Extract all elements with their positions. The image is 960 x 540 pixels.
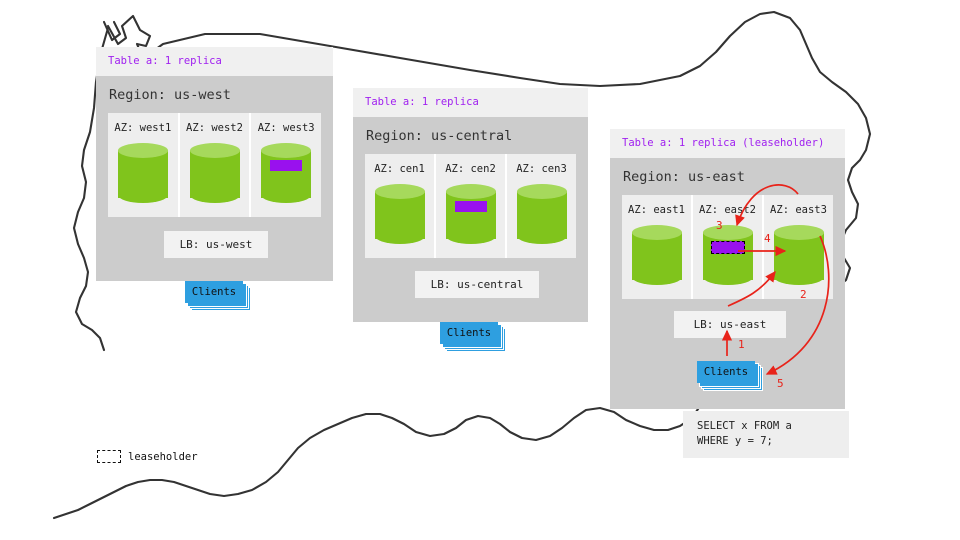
- cylinder-top: [118, 143, 168, 158]
- az-row-us-central: AZ: cen1 AZ: cen2: [365, 154, 576, 258]
- clients-label-us-east: Clients: [697, 361, 755, 383]
- node-cylinder-west2[interactable]: [190, 143, 240, 205]
- load-balancer-us-east[interactable]: LB: us-east: [674, 311, 786, 338]
- node-cylinder-east1[interactable]: [632, 225, 682, 287]
- cylinder-top: [190, 143, 240, 158]
- az-cell-west2[interactable]: AZ: west2: [180, 113, 252, 217]
- az-cell-east1[interactable]: AZ: east1: [622, 195, 693, 299]
- az-cell-west1[interactable]: AZ: west1: [108, 113, 180, 217]
- legend-leaseholder-label: leaseholder: [128, 451, 198, 463]
- clients-us-west[interactable]: Clients: [185, 281, 249, 309]
- az-cell-east2[interactable]: AZ: east2: [693, 195, 764, 299]
- load-balancer-us-central[interactable]: LB: us-central: [415, 271, 539, 298]
- step-number-5: 5: [777, 377, 784, 390]
- load-balancer-us-west[interactable]: LB: us-west: [164, 231, 268, 258]
- node-cylinder-cen3[interactable]: [517, 184, 567, 246]
- node-cylinder-east3[interactable]: [774, 225, 824, 287]
- step-number-2: 2: [800, 288, 807, 301]
- cylinder-top: [375, 184, 425, 199]
- az-row-us-east: AZ: east1 AZ: east2: [622, 195, 833, 299]
- az-label-cen1: AZ: cen1: [374, 163, 425, 175]
- az-label-east2: AZ: east2: [699, 204, 756, 216]
- table-replica-label-us-west: Table a: 1 replica: [96, 47, 333, 76]
- az-cell-cen3[interactable]: AZ: cen3: [507, 154, 576, 258]
- legend-leaseholder: leaseholder: [97, 450, 198, 463]
- replica-marker-west3: [270, 160, 302, 171]
- region-title-us-west: Region: us-west: [96, 76, 333, 113]
- az-label-east1: AZ: east1: [628, 204, 685, 216]
- az-label-west2: AZ: west2: [186, 122, 243, 134]
- replica-marker-east2-leaseholder: [711, 241, 745, 254]
- clients-us-central[interactable]: Clients: [440, 322, 504, 350]
- diagram-canvas: Table a: 1 replica Region: us-west AZ: w…: [0, 0, 960, 540]
- az-label-east3: AZ: east3: [770, 204, 827, 216]
- az-label-cen2: AZ: cen2: [445, 163, 496, 175]
- node-cylinder-cen2[interactable]: [446, 184, 496, 246]
- az-cell-east3[interactable]: AZ: east3: [764, 195, 833, 299]
- cylinder-top: [703, 225, 753, 240]
- node-cylinder-cen1[interactable]: [375, 184, 425, 246]
- node-cylinder-west1[interactable]: [118, 143, 168, 205]
- cylinder-top: [261, 143, 311, 158]
- az-cell-cen2[interactable]: AZ: cen2: [436, 154, 507, 258]
- az-label-west3: AZ: west3: [258, 122, 315, 134]
- step-number-1: 1: [738, 338, 745, 351]
- az-cell-cen1[interactable]: AZ: cen1: [365, 154, 436, 258]
- region-title-us-east: Region: us-east: [610, 158, 845, 195]
- az-row-us-west: AZ: west1 AZ: west2 AZ: [108, 113, 321, 217]
- cylinder-top: [517, 184, 567, 199]
- cylinder-top: [774, 225, 824, 240]
- az-label-west1: AZ: west1: [114, 122, 171, 134]
- az-cell-west3[interactable]: AZ: west3: [251, 113, 321, 217]
- table-replica-label-us-central: Table a: 1 replica: [353, 88, 588, 117]
- table-replica-label-us-east: Table a: 1 replica (leaseholder): [610, 129, 845, 158]
- step-number-4: 4: [764, 232, 771, 245]
- az-label-cen3: AZ: cen3: [516, 163, 567, 175]
- region-title-us-central: Region: us-central: [353, 117, 588, 154]
- step-number-3: 3: [716, 219, 723, 232]
- clients-us-east[interactable]: Clients: [697, 361, 761, 389]
- clients-label-us-central: Clients: [440, 322, 498, 344]
- clients-label-us-west: Clients: [185, 281, 243, 303]
- node-cylinder-east2[interactable]: [703, 225, 753, 287]
- cylinder-top: [446, 184, 496, 199]
- dashed-rect-leaseholder-swatch: [97, 450, 121, 463]
- node-cylinder-west3[interactable]: [261, 143, 311, 205]
- cylinder-top: [632, 225, 682, 240]
- replica-marker-cen2: [455, 201, 487, 212]
- sql-query-box: SELECT x FROM a WHERE y = 7;: [683, 411, 849, 458]
